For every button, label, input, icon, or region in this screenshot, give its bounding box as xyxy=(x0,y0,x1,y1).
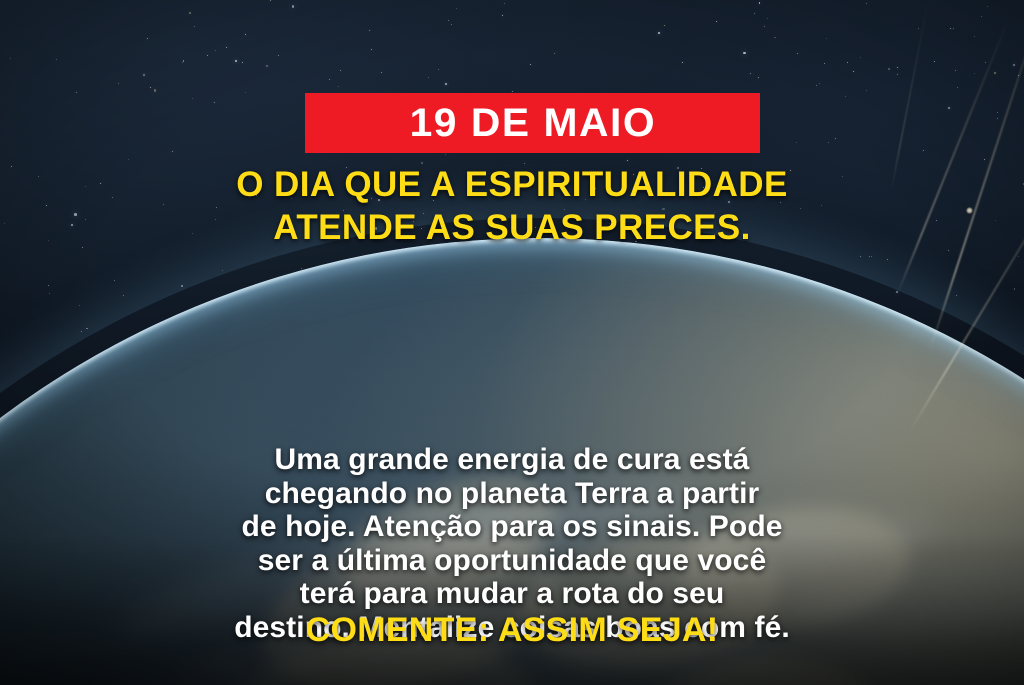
call-to-action-text: COMENTE: ASSIM SEJA! xyxy=(0,613,1024,647)
body-line-2: chegando no planeta Terra a partir xyxy=(0,477,1024,511)
body-line-1: Uma grande energia de cura está xyxy=(0,443,1024,477)
headline-line-1: O DIA QUE A ESPIRITUALIDADE xyxy=(0,163,1024,206)
date-banner-text: 19 DE MAIO xyxy=(409,103,656,143)
body-line-5: terá para mudar a rota do seu xyxy=(0,577,1024,611)
headline: O DIA QUE A ESPIRITUALIDADE ATENDE AS SU… xyxy=(0,163,1024,250)
poster-canvas: 19 DE MAIO O DIA QUE A ESPIRITUALIDADE A… xyxy=(0,0,1024,685)
poster-content: 19 DE MAIO O DIA QUE A ESPIRITUALIDADE A… xyxy=(0,0,1024,685)
date-banner: 19 DE MAIO xyxy=(305,93,760,153)
body-line-4: ser a última oportunidade que você xyxy=(0,544,1024,578)
body-line-3: de hoje. Atenção para os sinais. Pode xyxy=(0,510,1024,544)
headline-line-2: ATENDE AS SUAS PRECES. xyxy=(0,206,1024,249)
